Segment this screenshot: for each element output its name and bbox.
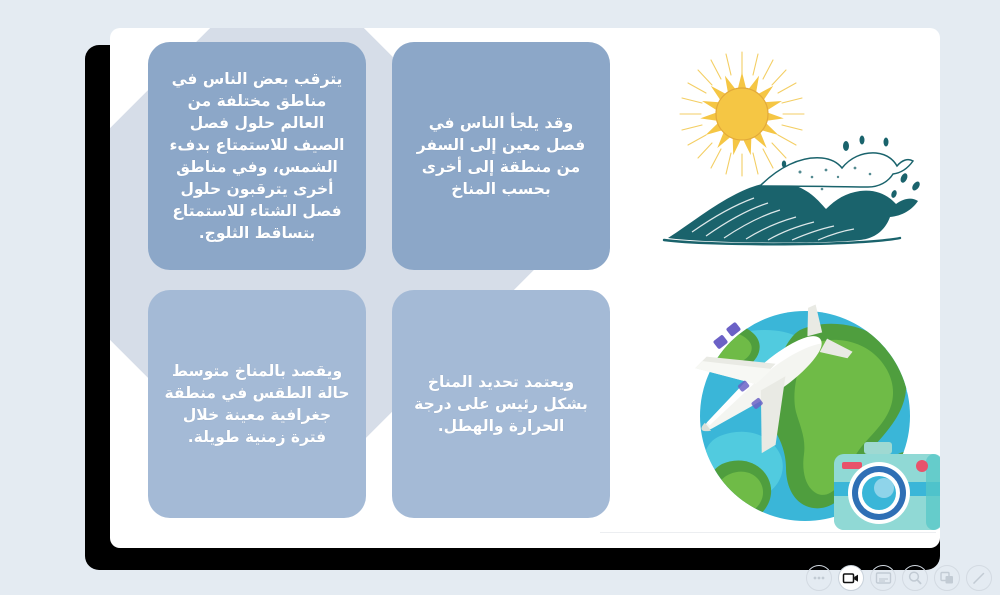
presentation-stage: يترقب بعض الناس في مناطق مختلفة من العال… xyxy=(0,0,1000,595)
content-card-top-left[interactable]: وقد يلجأ الناس في فصل معين إلى السفر من … xyxy=(392,42,610,270)
zoom-search-button[interactable] xyxy=(902,565,928,591)
globe-airplane-camera-icon xyxy=(650,286,940,536)
card-text-bottom-left: ويعتمد تحديد المناخ بشكل رئيس على درجة ا… xyxy=(408,371,594,437)
pen-annotate-button[interactable] xyxy=(966,565,992,591)
sun-and-ocean-wave-icon xyxy=(650,46,940,286)
more-dots-icon xyxy=(811,570,827,586)
pen-icon xyxy=(971,570,987,586)
presentation-toolbar[interactable] xyxy=(806,563,992,593)
slide-canvas[interactable]: يترقب بعض الناس في مناطق مختلفة من العال… xyxy=(110,28,940,548)
content-card-bottom-right[interactable]: ويقصد بالمناخ متوسط حالة الطقس في منطقة … xyxy=(148,290,366,518)
grid-layout-icon xyxy=(939,570,955,586)
speaker-notes-button[interactable] xyxy=(870,565,896,591)
card-text-bottom-right: ويقصد بالمناخ متوسط حالة الطقس في منطقة … xyxy=(164,360,350,448)
more-dots-button[interactable] xyxy=(806,565,832,591)
layout-grid-button[interactable] xyxy=(934,565,960,591)
content-card-bottom-left[interactable]: ويعتمد تحديد المناخ بشكل رئيس على درجة ا… xyxy=(392,290,610,518)
card-text-top-right: يترقب بعض الناس في مناطق مختلفة من العال… xyxy=(164,68,350,244)
content-card-top-right[interactable]: يترقب بعض الناس في مناطق مختلفة من العال… xyxy=(148,42,366,270)
record-video-button[interactable] xyxy=(838,565,864,591)
notes-icon xyxy=(875,571,892,585)
card-text-top-left: وقد يلجأ الناس في فصل معين إلى السفر من … xyxy=(408,112,594,200)
magnifier-icon xyxy=(907,570,923,586)
card-grid: يترقب بعض الناس في مناطق مختلفة من العال… xyxy=(148,42,648,522)
video-camera-icon xyxy=(842,570,860,586)
